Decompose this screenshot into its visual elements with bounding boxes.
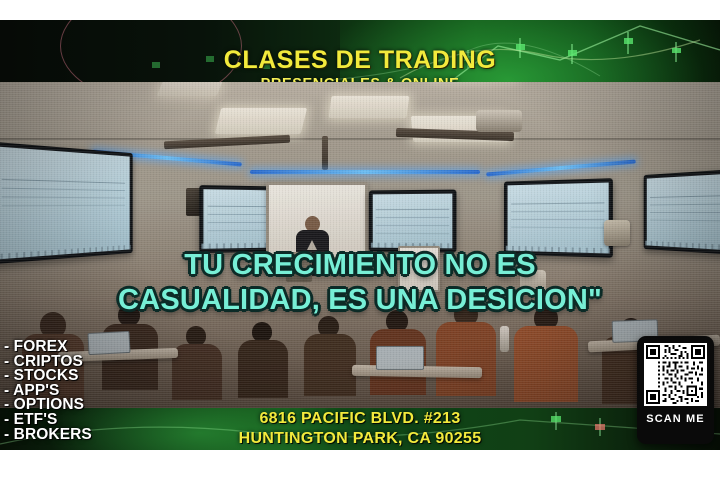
- laptop: [87, 331, 130, 355]
- classroom-photo: [0, 20, 720, 450]
- qr-code-icon: [646, 345, 705, 404]
- student-body: [436, 322, 496, 396]
- address-block: 6816 PACIFIC BLVD. #213 HUNTINGTON PARK,…: [0, 409, 720, 448]
- student-body: [514, 326, 578, 402]
- ceiling-light-panel: [328, 96, 409, 118]
- headline-line-1: TU CRECIMIENTO NO ES: [0, 248, 720, 283]
- student-body: [304, 334, 356, 396]
- student-head: [252, 322, 272, 342]
- student-body: [172, 344, 222, 400]
- projector-body: [476, 110, 522, 132]
- letterbox-top: [0, 0, 720, 20]
- ceiling-light-panel: [215, 108, 307, 134]
- letterbox-bottom: [0, 450, 720, 480]
- wall-monitor: [504, 178, 613, 258]
- water-bottle: [500, 326, 509, 352]
- address-line-2: HUNTINGTON PARK, CA 90255: [0, 429, 720, 448]
- wall-monitor: [0, 142, 133, 265]
- student-head: [186, 326, 206, 346]
- address-line-1: 6816 PACIFIC BLVD. #213: [0, 409, 720, 429]
- wall-monitor: [369, 190, 457, 253]
- ceiling-light-panel: [157, 80, 223, 96]
- qr-card[interactable]: SCAN ME: [637, 336, 714, 444]
- promo-flyer: TU CRECIMIENTO NO ES CASUALIDAD, ES UNA …: [0, 0, 720, 480]
- qr-code-image[interactable]: [644, 343, 707, 406]
- graduation-plaque: [604, 220, 630, 246]
- student-body: [238, 340, 288, 398]
- headline-line-2: CASUALIDAD, ES UNA DESICION": [0, 283, 720, 318]
- banner-subtitle: PRESENCIALES & ONLINE: [0, 76, 720, 82]
- headline: TU CRECIMIENTO NO ES CASUALIDAD, ES UNA …: [0, 248, 720, 318]
- led-strip: [250, 170, 480, 174]
- wall-monitor: [644, 168, 720, 255]
- projector-mount: [322, 136, 328, 170]
- top-banner: CLASES DE TRADING PRESENCIALES & ONLINE: [0, 20, 720, 82]
- banner-title: CLASES DE TRADING: [0, 46, 720, 75]
- laptop: [376, 346, 424, 370]
- scan-me-label: SCAN ME: [646, 413, 704, 425]
